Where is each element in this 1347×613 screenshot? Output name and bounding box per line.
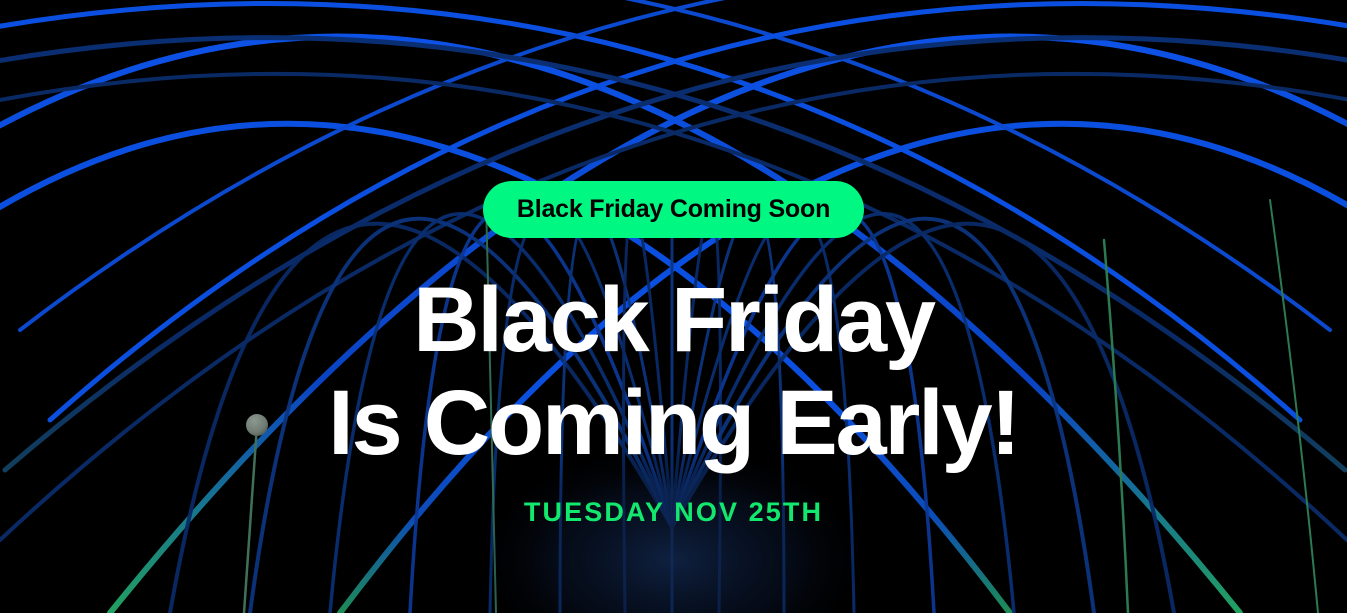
page-title: Black Friday Is Coming Early! [328, 269, 1019, 475]
headline-line-2: Is Coming Early! [328, 372, 1019, 475]
headline-line-1: Black Friday [328, 269, 1019, 372]
hero-content: Black Friday Coming Soon Black Friday Is… [0, 0, 1347, 613]
coming-soon-badge[interactable]: Black Friday Coming Soon [483, 181, 864, 238]
sale-date-label: TUESDAY NOV 25TH [524, 499, 823, 526]
black-friday-hero-banner: Black Friday Coming Soon Black Friday Is… [0, 0, 1347, 613]
